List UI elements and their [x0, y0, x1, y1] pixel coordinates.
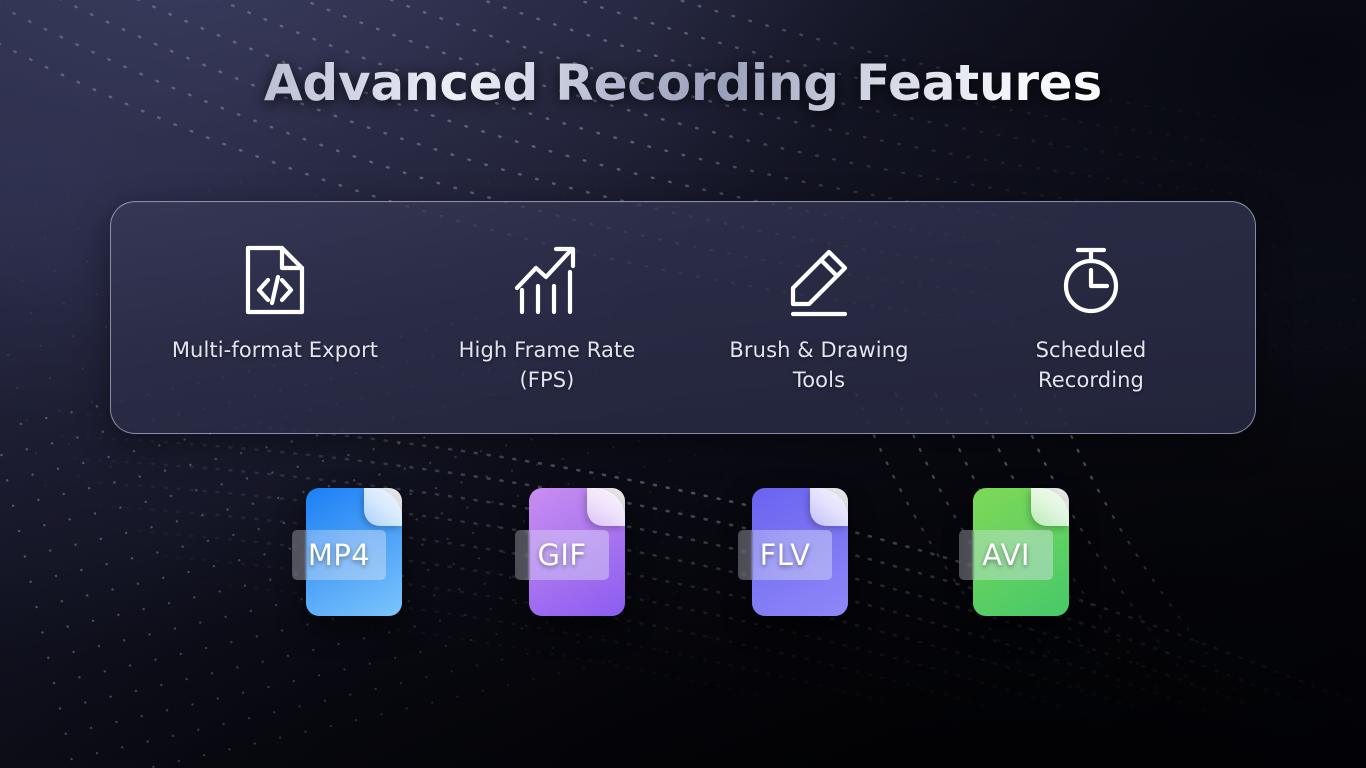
- folded-corner: [1031, 488, 1069, 526]
- pencil-underline-icon: [783, 244, 855, 316]
- feature-multi-format-export[interactable]: Multi-format Export: [139, 244, 411, 366]
- feature-high-frame-rate[interactable]: High Frame Rate(FPS): [411, 244, 683, 396]
- format-badge-gif[interactable]: GIF: [529, 488, 625, 616]
- slide-canvas: Advanced Recording Features Multi-format…: [0, 0, 1366, 768]
- feature-label: High Frame Rate(FPS): [459, 336, 636, 396]
- stopwatch-icon: [1055, 244, 1127, 316]
- feature-scheduled-recording[interactable]: Scheduled Recording: [955, 244, 1227, 396]
- format-badge-mp4[interactable]: MP4: [306, 488, 402, 616]
- file-code-icon: [239, 244, 311, 316]
- features-card: Multi-format Export High Frame Rate(FPS): [110, 201, 1256, 434]
- format-label: MP4: [308, 538, 370, 572]
- feature-label: Brush & DrawingTools: [729, 336, 908, 396]
- format-badges: MP4 GIF FLV AVI: [0, 488, 1366, 620]
- feature-brush-drawing-tools[interactable]: Brush & DrawingTools: [683, 244, 955, 396]
- format-badge-avi[interactable]: AVI: [973, 488, 1069, 616]
- format-label-band: FLV: [738, 530, 832, 580]
- format-label-band: GIF: [515, 530, 609, 580]
- format-label-band: MP4: [292, 530, 386, 580]
- format-label: FLV: [760, 538, 811, 572]
- folded-corner: [810, 488, 848, 526]
- feature-label: Scheduled Recording: [984, 336, 1199, 396]
- format-label-band: AVI: [959, 530, 1053, 580]
- folded-corner: [587, 488, 625, 526]
- format-label: GIF: [538, 538, 587, 572]
- folded-corner: [364, 488, 402, 526]
- feature-label: Multi-format Export: [172, 336, 378, 366]
- format-badge-flv[interactable]: FLV: [752, 488, 848, 616]
- format-label: AVI: [982, 538, 1030, 572]
- page-title: Advanced Recording Features: [0, 55, 1366, 113]
- chart-trending-up-icon: [511, 244, 583, 316]
